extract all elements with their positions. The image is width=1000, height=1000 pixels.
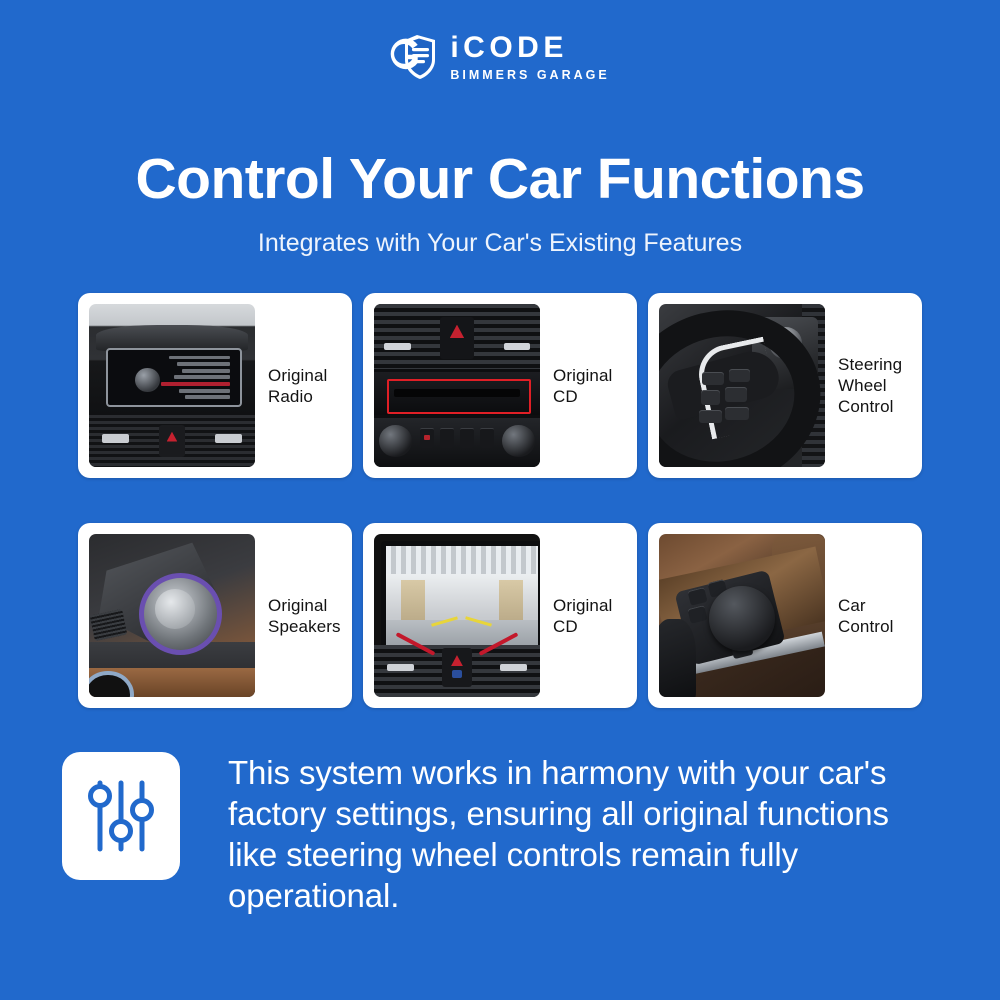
icode-shield-g-icon <box>390 32 438 82</box>
car-dashboard-radio-screen-photo <box>89 304 255 467</box>
brand-name: iCODE <box>450 33 568 63</box>
feature-card-original-radio[interactable]: Original Radio <box>78 293 352 478</box>
feature-label: Original CD <box>553 595 626 637</box>
promo-graphic: iCODE BIMMERS GARAGE Control Your Car Fu… <box>0 0 1000 1000</box>
brand-logo: iCODE BIMMERS GARAGE <box>390 32 609 82</box>
feature-label: Steering Wheel Control <box>838 354 911 417</box>
sliders-equalizer-icon <box>62 752 180 880</box>
feature-label: Original Radio <box>268 365 341 407</box>
steering-wheel-buttons-photo <box>659 304 825 467</box>
brand-wordmark: iCODE BIMMERS GARAGE <box>450 33 609 82</box>
dashboard-tweeter-speaker-photo <box>89 534 255 697</box>
feature-card-car-control[interactable]: Car Control <box>648 523 922 708</box>
feature-card-grid: Original Radio Original CD <box>78 293 922 708</box>
feature-label: Car Control <box>838 595 911 637</box>
feature-card-steering-wheel-control[interactable]: Steering Wheel Control <box>648 293 922 478</box>
page-title: Control Your Car Functions <box>0 148 1000 211</box>
feature-card-original-speakers[interactable]: Original Speakers <box>78 523 352 708</box>
page-subtitle: Integrates with Your Car's Existing Feat… <box>0 228 1000 258</box>
reverse-camera-display-screen-photo <box>374 534 540 697</box>
brand-tagline: BIMMERS GARAGE <box>450 69 609 82</box>
cd-slot-center-console-photo <box>374 304 540 467</box>
brand-header: iCODE BIMMERS GARAGE <box>0 32 1000 82</box>
feature-label: Original CD <box>553 365 626 407</box>
cd-slot-highlight <box>387 379 530 414</box>
feature-card-original-cd[interactable]: Original CD <box>363 293 637 478</box>
footer-body-text: This system works in harmony with your c… <box>228 752 928 916</box>
feature-label: Original Speakers <box>268 595 341 637</box>
idrive-rotary-controller-photo <box>659 534 825 697</box>
footer-statement: This system works in harmony with your c… <box>62 752 942 916</box>
feature-card-original-cd-camera[interactable]: Original CD <box>363 523 637 708</box>
